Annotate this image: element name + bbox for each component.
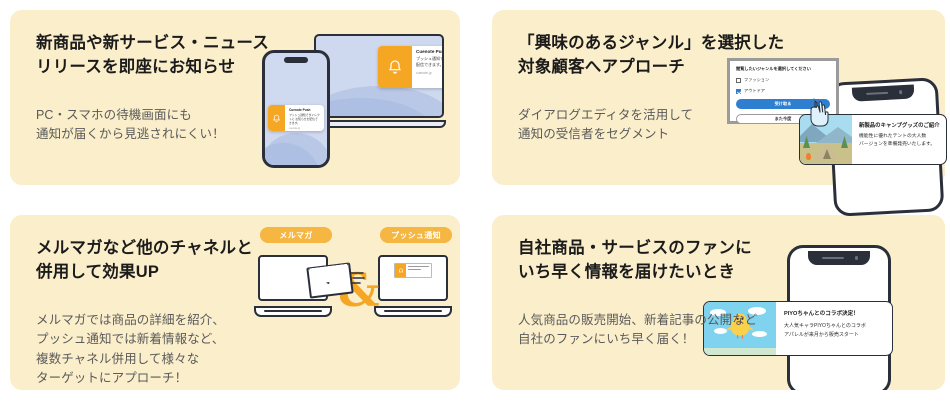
- card-3-text: メルマガなど他のチャネルと 併用して効果UP メルマガでは商品の詳細を紹介、 プ…: [10, 215, 460, 388]
- card-2-heading: 「興味のあるジャンル」を選択した 対象顧客へアプローチ: [518, 32, 945, 80]
- card-1-heading: 新商品や新サービス・ニュース リリースを即座にお知らせ: [36, 32, 460, 80]
- card-2-text: 「興味のあるジャンル」を選択した 対象顧客へアプローチ ダイアログエディタを活用…: [492, 10, 945, 145]
- feature-card-multi-channel: メルマガなど他のチャネルと 併用して効果UP メルマガでは商品の詳細を紹介、 プ…: [10, 215, 460, 390]
- card-1-body: PC・スマホの待機画面にも 通知が届くから見逃されにくい！: [36, 106, 460, 145]
- feature-card-fan-delivery: 自社商品・サービスのファンに いち早く情報を届けたいとき 人気商品の販売開始、新…: [492, 215, 945, 390]
- campfire: [806, 153, 811, 160]
- feature-card-instant-notification: 新商品や新サービス・ニュース リリースを即座にお知らせ PC・スマホの待機画面に…: [10, 10, 460, 185]
- card-2-body: ダイアログエディタを活用して 通知の受信者をセグメント: [518, 106, 945, 145]
- card-4-body: 人気商品の販売開始、新着記事の公開など 自社のファンにいち早く届く！: [518, 311, 945, 350]
- card-4-clip: 自社商品・サービスのファンに いち早く情報を届けたいとき 人気商品の販売開始、新…: [492, 215, 945, 390]
- card-4-heading: 自社商品・サービスのファンに いち早く情報を届けたいとき: [518, 237, 945, 285]
- card-1-text: 新商品や新サービス・ニュース リリースを即座にお知らせ PC・スマホの待機画面に…: [10, 10, 460, 145]
- feature-card-grid: 新商品や新サービス・ニュース リリースを即座にお知らせ PC・スマホの待機画面に…: [0, 0, 950, 402]
- feature-card-genre-segment: 「興味のあるジャンル」を選択した 対象顧客へアプローチ ダイアログエディタを活用…: [492, 10, 945, 185]
- card-3-body: メルマガでは商品の詳細を紹介、 プッシュ通知では新着情報など、 複数チャネル併用…: [36, 311, 460, 389]
- card-3-clip: メルマガなど他のチャネルと 併用して効果UP メルマガでは商品の詳細を紹介、 プ…: [10, 215, 460, 390]
- card-3-heading: メルマガなど他のチャネルと 併用して効果UP: [36, 237, 460, 285]
- card-1-clip: 新商品や新サービス・ニュース リリースを即座にお知らせ PC・スマホの待機画面に…: [10, 10, 460, 185]
- card-4-text: 自社商品・サービスのファンに いち早く情報を届けたいとき 人気商品の販売開始、新…: [492, 215, 945, 350]
